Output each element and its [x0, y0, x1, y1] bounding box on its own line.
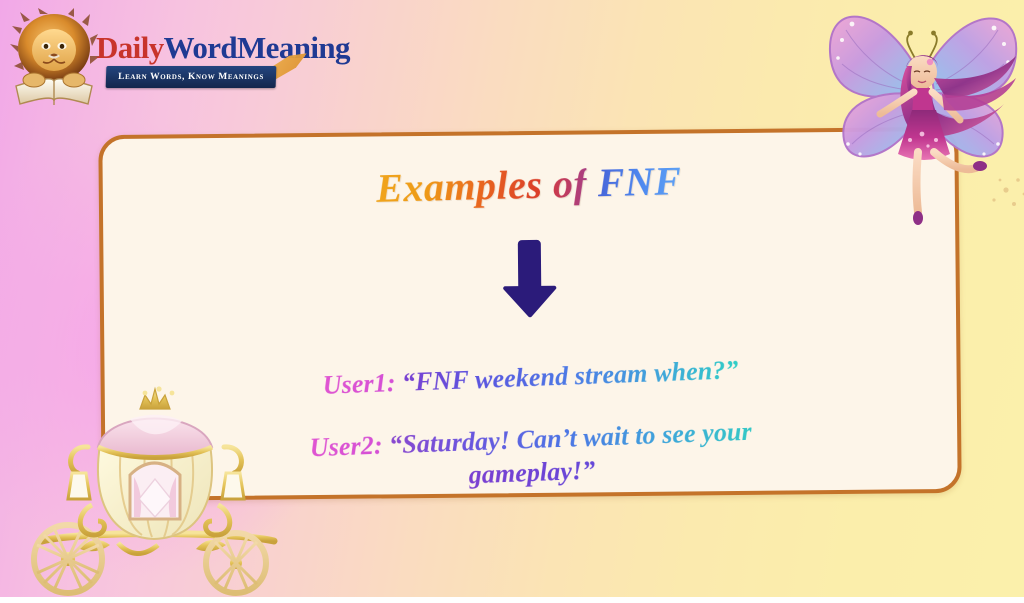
example-2-speaker: User2: [309, 431, 383, 463]
down-arrow-icon [501, 238, 558, 321]
example-2-quote-line2: gameplay!” [468, 456, 596, 490]
logo-brand-text: DailyWordMeaning [96, 30, 350, 66]
princess-carriage-illustration [20, 373, 300, 603]
example-1-quote: “FNF weekend stream when?” [402, 355, 739, 397]
logo-tagline-text: Learn Words, Know Meanings [106, 66, 277, 88]
title-word-examples: Examples [376, 162, 543, 211]
daily-word-meaning-logo[interactable]: DailyWordMeaning Learn Words, Know Meani… [8, 4, 288, 112]
title-word-fnf: FNF [597, 158, 682, 205]
title-word-of: of [552, 161, 587, 207]
butterfly-fairy-illustration [818, 0, 1024, 244]
logo-brand-part1: Daily [96, 30, 164, 65]
example-2-quote-line1: “Saturday! Can’t wait to see your [389, 417, 753, 460]
lion-reading-book-icon [10, 8, 106, 112]
example-1-speaker: User1: [322, 368, 396, 400]
logo-brand-part2: Word [164, 30, 237, 65]
logo-tagline-ribbon: Learn Words, Know Meanings [106, 66, 277, 88]
